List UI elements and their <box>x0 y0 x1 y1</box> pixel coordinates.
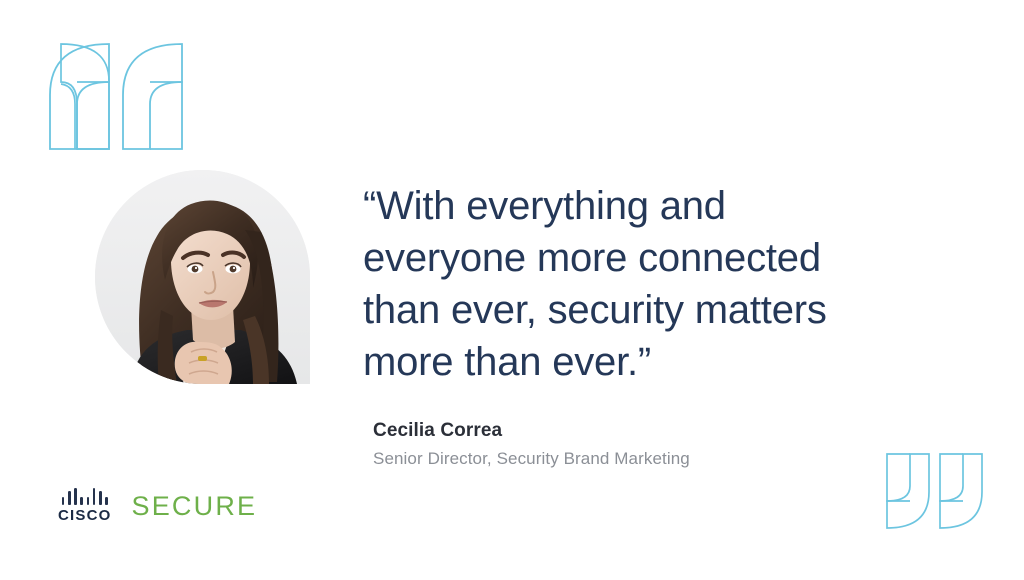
avatar-clip <box>95 170 310 384</box>
quote-text: “With everything and everyone more conne… <box>363 180 883 388</box>
quote-card: “With everything and everyone more conne… <box>0 0 1024 580</box>
portrait-illustration <box>95 170 310 384</box>
avatar <box>95 170 310 384</box>
cisco-wordmark: CISCO <box>58 508 112 524</box>
cisco-bridge-icon <box>62 488 108 505</box>
attribution-name: Cecilia Correa <box>373 418 893 444</box>
attribution: Cecilia Correa Senior Director, Security… <box>373 418 893 472</box>
brand-lockup: CISCO SECURE <box>58 488 257 524</box>
secure-wordmark: SECURE <box>132 492 258 520</box>
opening-quotation-mark <box>48 42 192 150</box>
attribution-role: Senior Director, Security Brand Marketin… <box>373 446 893 472</box>
cisco-logo: CISCO <box>58 488 112 524</box>
closing-quotation-mark <box>880 452 984 530</box>
